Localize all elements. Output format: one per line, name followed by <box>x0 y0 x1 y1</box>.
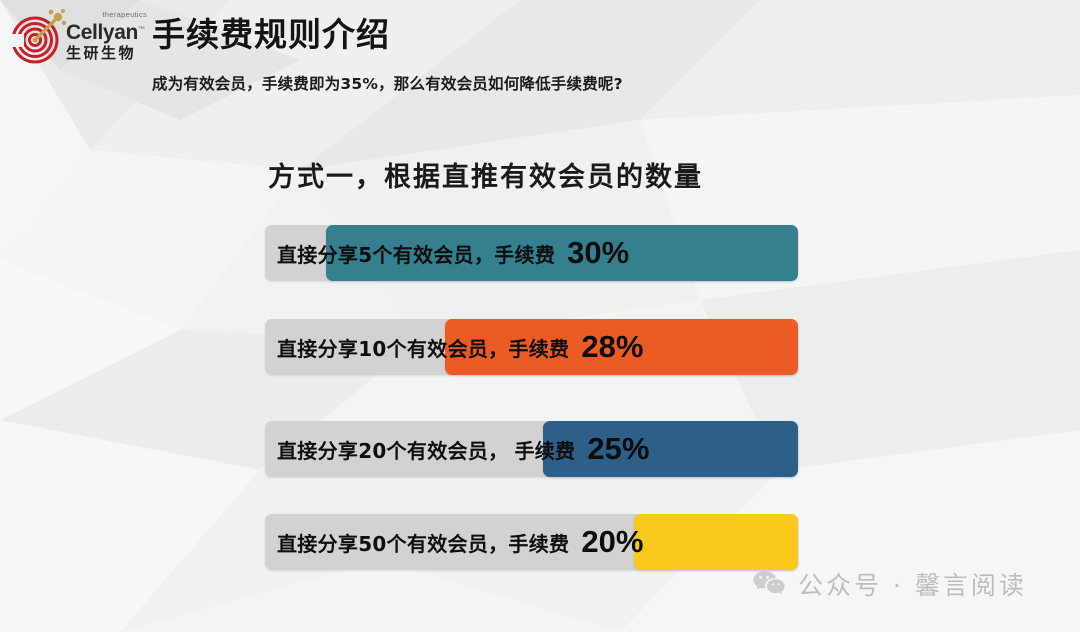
wechat-icon <box>752 570 786 598</box>
fee-rule-row: 直接分享10个有效会员，手续费28% <box>265 319 798 375</box>
fee-rule-row: 直接分享5个有效会员，手续费30% <box>265 225 798 281</box>
row-percent-value: 25% <box>587 431 649 467</box>
fee-rule-row: 直接分享20个有效会员，手续费25% <box>265 421 798 477</box>
row-label-group: 直接分享5个有效会员，手续费30% <box>265 225 798 281</box>
fee-rule-row: 直接分享50个有效会员，手续费20% <box>265 514 798 570</box>
fee-rule-list: 直接分享5个有效会员，手续费30%直接分享10个有效会员，手续费28%直接分享2… <box>0 0 1080 632</box>
row-label-group: 直接分享10个有效会员，手续费28% <box>265 319 798 375</box>
watermark-text: 公众号 · 馨言阅读 <box>798 566 1027 602</box>
watermark: 公众号 · 馨言阅读 <box>752 566 1027 602</box>
row-percent-value: 30% <box>567 235 629 271</box>
row-label-suffix: 手续费 <box>514 435 575 464</box>
row-label-text: 直接分享5个有效会员，手续费 <box>277 239 555 268</box>
row-label-group: 直接分享50个有效会员，手续费20% <box>265 514 798 570</box>
slide-canvas: therapeutics Cellyan™ 生研生物 手续费规则介绍 成为有效会… <box>0 0 1080 632</box>
row-label-text: 直接分享20个有效会员， <box>277 435 508 464</box>
row-percent-value: 20% <box>581 524 643 560</box>
row-label-group: 直接分享20个有效会员，手续费25% <box>265 421 798 477</box>
row-label-text: 直接分享50个有效会员，手续费 <box>277 528 569 557</box>
row-percent-value: 28% <box>581 329 643 365</box>
row-label-text: 直接分享10个有效会员，手续费 <box>277 333 569 362</box>
